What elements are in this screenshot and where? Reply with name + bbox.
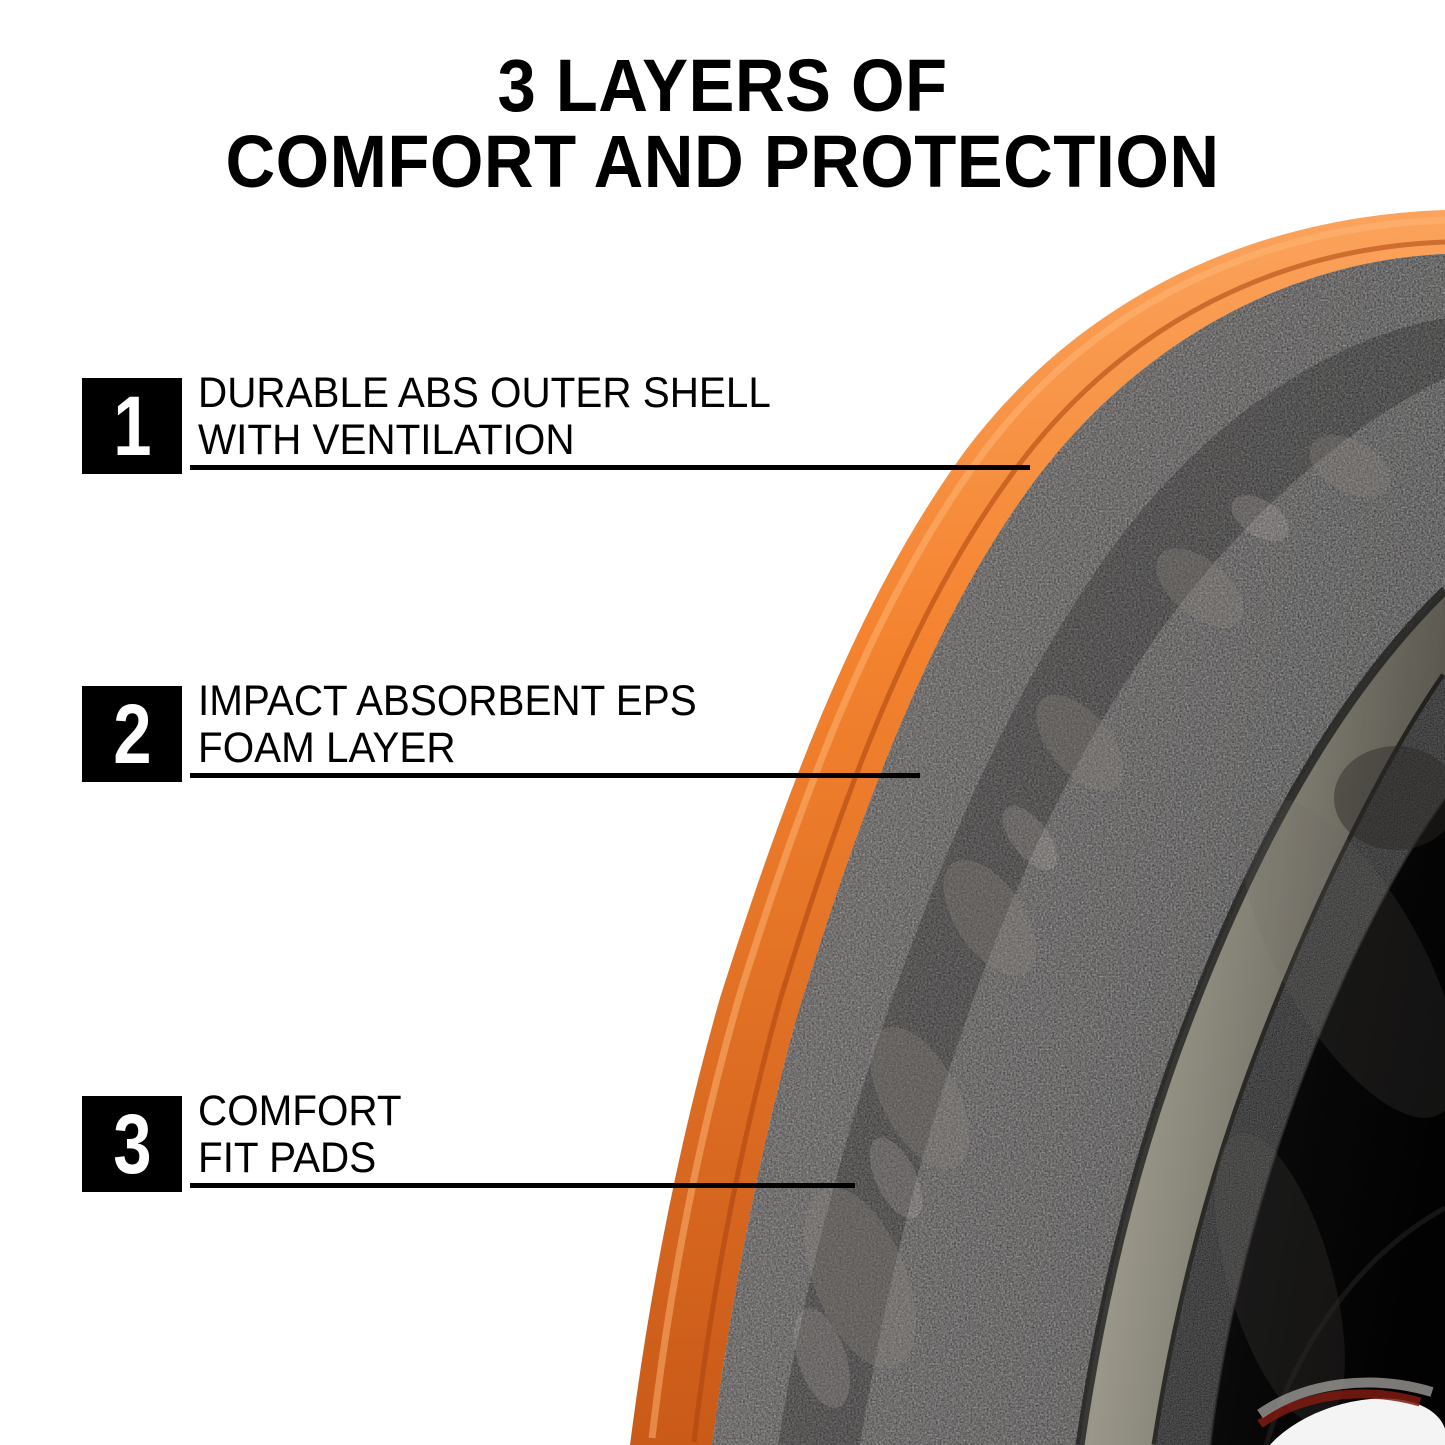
callout-2-line-2: FOAM LAYER — [198, 725, 697, 772]
page-title: 3 LAYERS OF COMFORT AND PROTECTION — [0, 48, 1445, 200]
callout-3-line-2: FIT PADS — [198, 1135, 402, 1182]
callout-1-line-1: DURABLE ABS OUTER SHELL — [198, 369, 771, 417]
page-title-line-2: COMFORT AND PROTECTION — [51, 124, 1395, 200]
page-title-line-1: 3 LAYERS OF — [51, 48, 1395, 124]
callout-2-text: IMPACT ABSORBENT EPS FOAM LAYER — [198, 678, 697, 772]
callout-3-leader-line — [190, 1183, 855, 1188]
callout-1-number-badge: 1 — [82, 378, 182, 474]
callout-3-text: COMFORT FIT PADS — [198, 1088, 402, 1182]
callout-2-leader-line — [190, 773, 920, 778]
callout-2-number-badge: 2 — [82, 686, 182, 782]
infographic-page: 3 LAYERS OF COMFORT AND PROTECTION 1 DUR… — [0, 0, 1445, 1445]
callout-1-leader-line — [190, 465, 1030, 470]
callout-3-line-1: COMFORT — [198, 1087, 402, 1135]
callout-2-number: 2 — [113, 686, 151, 782]
callout-1-text: DURABLE ABS OUTER SHELL WITH VENTILATION — [198, 370, 771, 464]
callout-2-line-1: IMPACT ABSORBENT EPS — [198, 677, 697, 725]
callout-3-number-badge: 3 — [82, 1096, 182, 1192]
callout-3-number: 3 — [113, 1096, 151, 1192]
callout-1-number: 1 — [113, 378, 151, 474]
callout-1-line-2: WITH VENTILATION — [198, 417, 771, 464]
